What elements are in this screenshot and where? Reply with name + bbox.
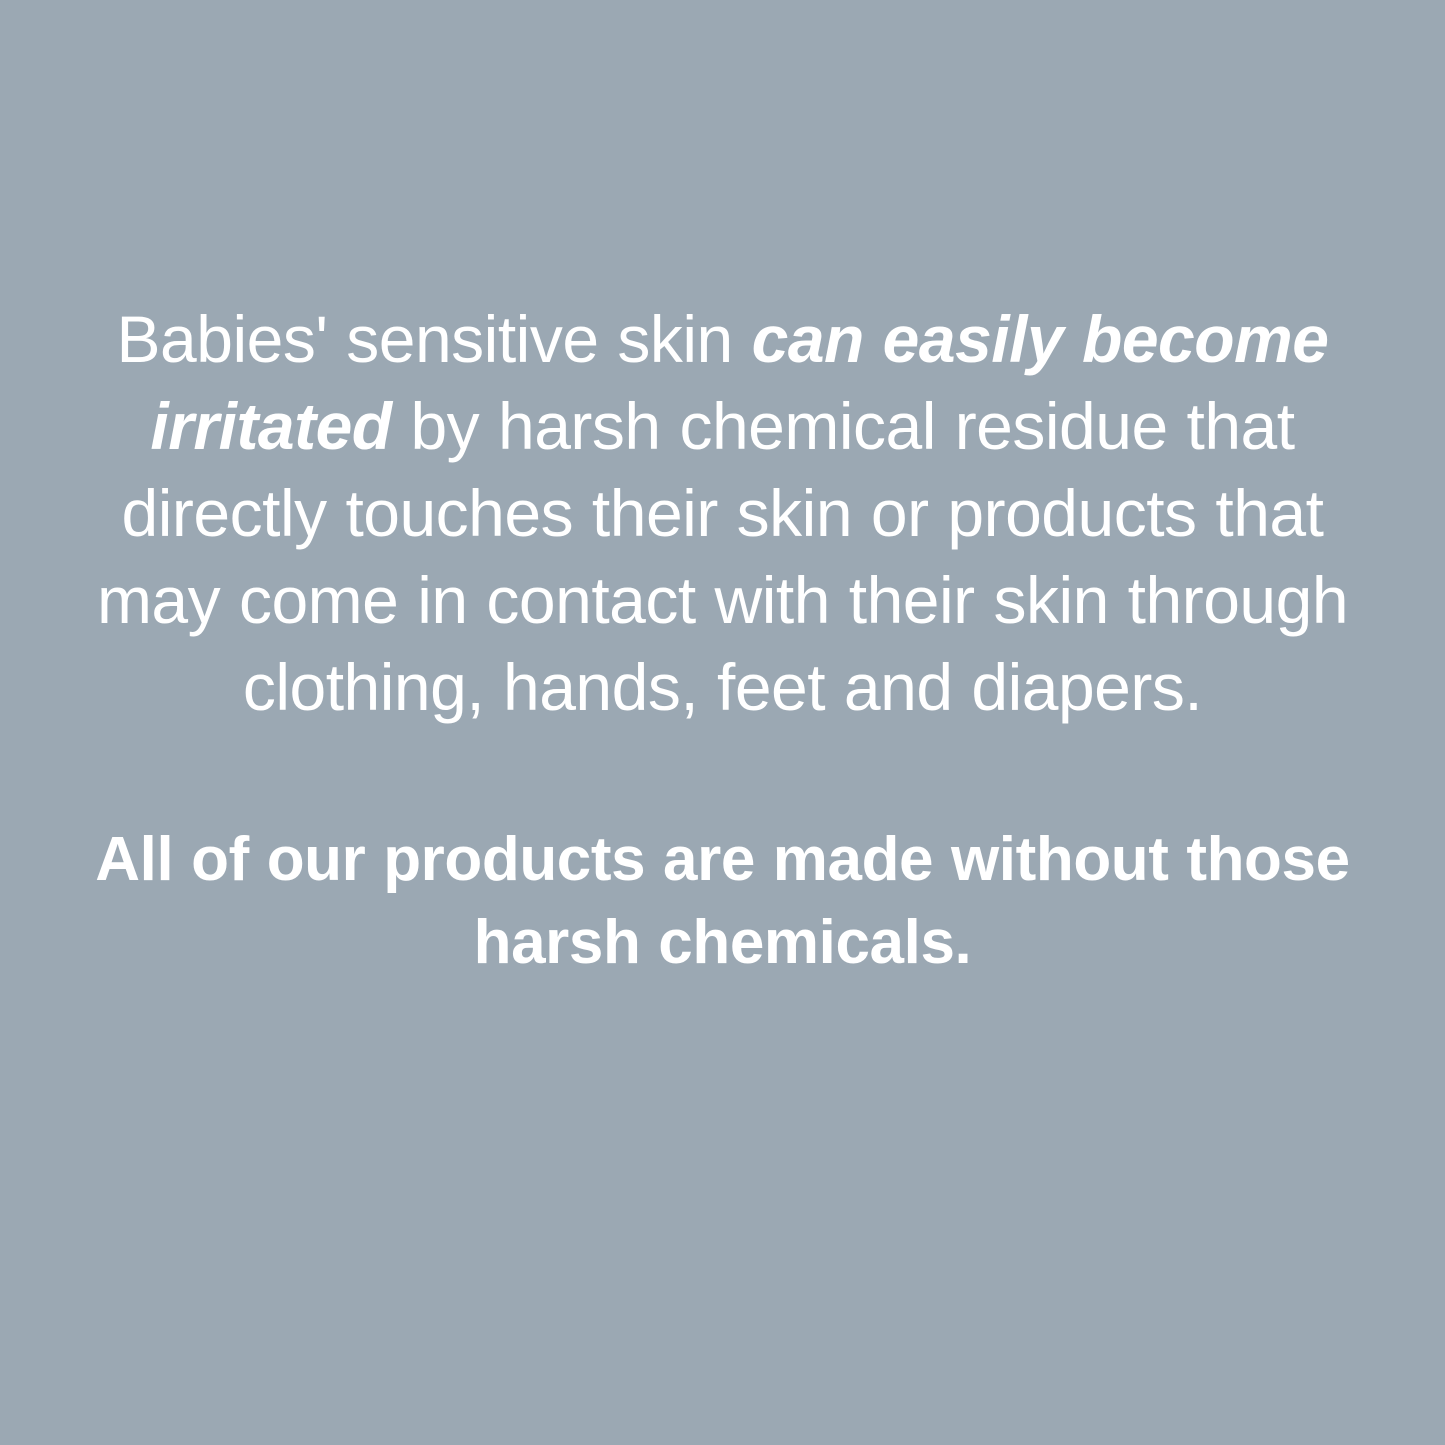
- paragraph-gap-spacer: [93, 731, 1353, 818]
- closing-statement: All of our products are made without tho…: [93, 818, 1353, 984]
- text-content-stack: Babies' sensitive skin can easily become…: [93, 296, 1353, 984]
- body-paragraph: Babies' sensitive skin can easily become…: [93, 296, 1353, 731]
- body-lead-in-text: Babies' sensitive skin: [117, 302, 752, 376]
- statement-card: Babies' sensitive skin can easily become…: [0, 0, 1445, 1445]
